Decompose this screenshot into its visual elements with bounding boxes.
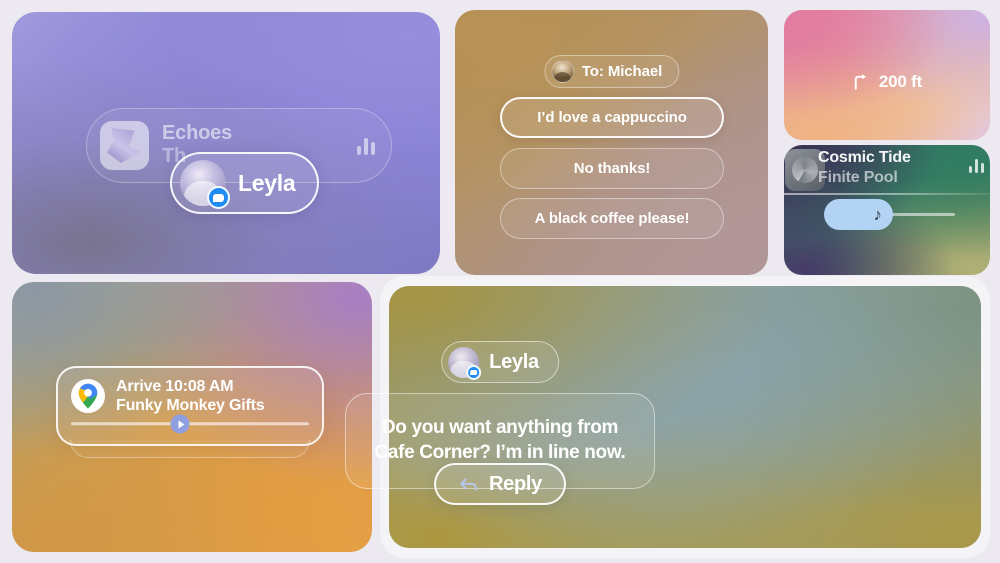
arrival-text: Arrive 10:08 AM Funky Monkey Gifts bbox=[116, 377, 264, 415]
avatar bbox=[448, 347, 479, 378]
reply-arrow-icon bbox=[458, 474, 479, 495]
music-caller-card[interactable]: Echoes Th Leyla bbox=[12, 12, 440, 274]
message-body: Do you want anything from Cafe Corner? I… bbox=[368, 416, 632, 465]
avatar bbox=[551, 60, 574, 83]
equalizer-icon bbox=[969, 158, 985, 173]
map-pin-icon bbox=[71, 379, 105, 413]
arrival-card[interactable]: Arrive 10:08 AM Funky Monkey Gifts bbox=[56, 366, 324, 446]
reply-button[interactable]: Reply bbox=[434, 463, 566, 505]
caller-name: Leyla bbox=[238, 170, 295, 197]
arrival-time: Arrive 10:08 AM bbox=[116, 377, 264, 396]
recipient-label: To: Michael bbox=[582, 63, 662, 80]
music-player-title: Cosmic Tide bbox=[818, 149, 911, 167]
route-progress-track bbox=[71, 422, 309, 425]
recipient-pill[interactable]: To: Michael bbox=[544, 55, 679, 88]
quick-reply-option-2[interactable]: A black coffee please! bbox=[500, 198, 724, 239]
arrival-header: Arrive 10:08 AM Funky Monkey Gifts bbox=[71, 377, 309, 415]
quick-replies-card[interactable]: To: Michael I’d love a cappuccino No tha… bbox=[455, 10, 768, 275]
divider bbox=[784, 193, 990, 195]
reply-label: Reply bbox=[489, 473, 542, 496]
quick-reply-option-1[interactable]: No thanks! bbox=[500, 148, 724, 189]
music-note-icon: ♪ bbox=[874, 206, 883, 223]
album-art-icon bbox=[100, 121, 149, 170]
navigation-distance: 200 ft bbox=[879, 72, 922, 92]
message-bubble-icon bbox=[466, 365, 481, 380]
turn-right-arrow-icon bbox=[852, 73, 870, 91]
volume-slider-handle[interactable]: ♪ bbox=[824, 199, 893, 230]
navigation-row: 200 ft bbox=[784, 72, 990, 92]
now-playing-title: Echoes bbox=[162, 123, 344, 145]
sender-pill[interactable]: Leyla bbox=[441, 341, 559, 383]
music-player-card[interactable]: Cosmic Tide Finite Pool ♪ bbox=[784, 145, 990, 275]
arrival-destination: Funky Monkey Gifts bbox=[116, 396, 264, 415]
widget-gallery: Echoes Th Leyla To: Michael I’d love a c… bbox=[0, 0, 1000, 563]
route-progress[interactable] bbox=[71, 416, 309, 432]
sender-name: Leyla bbox=[489, 351, 539, 374]
navigation-card[interactable]: 200 ft bbox=[784, 10, 990, 140]
caller-pill[interactable]: Leyla bbox=[170, 152, 319, 214]
equalizer-icon bbox=[357, 137, 375, 155]
play-icon[interactable] bbox=[171, 415, 190, 434]
avatar bbox=[180, 160, 226, 206]
quick-reply-option-0[interactable]: I’d love a cappuccino bbox=[500, 97, 724, 138]
message-bubble-icon bbox=[207, 186, 230, 209]
music-player-subtitle: Finite Pool bbox=[818, 169, 898, 187]
